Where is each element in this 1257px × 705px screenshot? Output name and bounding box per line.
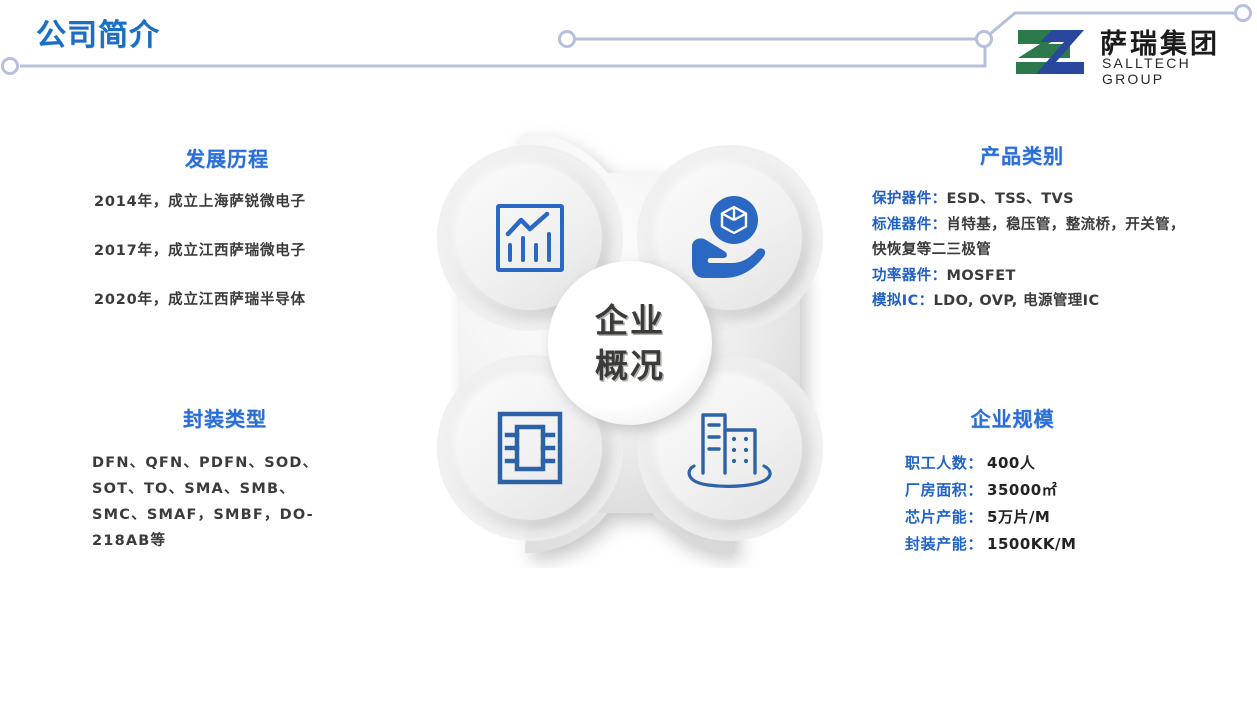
salltech-logo-mark <box>1012 26 1092 78</box>
scale-label: 芯片产能： <box>905 504 983 531</box>
page-header: 公司简介 萨瑞集团 SALLTECH GROUP <box>0 0 1257 100</box>
category-value: MOSFET <box>947 268 1016 284</box>
category-value: LDO, OVP, 电源管理IC <box>934 293 1100 309</box>
category-label: 模拟IC： <box>872 293 934 309</box>
category-label: 功率器件： <box>872 268 947 284</box>
section-enterprise-scale: 企业规模 职工人数： 400人 厂房面积： 35000㎡ 芯片产能： 5万片/M… <box>905 403 1155 558</box>
logo-name-en: SALLTECH GROUP <box>1102 55 1242 87</box>
category-item: 保护器件：ESD、TSS、TVS <box>872 187 1192 213</box>
history-item: 2017年，成立江西萨瑞微电子 <box>94 239 360 260</box>
scale-list: 职工人数： 400人 厂房面积： 35000㎡ 芯片产能： 5万片/M 封装产能… <box>905 450 1155 558</box>
scale-row: 芯片产能： 5万片/M <box>905 504 1155 531</box>
section-package-types: 封装类型 DFN、QFN、PDFN、SOD、SOT、TO、SMA、SMB、SMC… <box>92 403 358 554</box>
category-item: 标准器件：肖特基，稳压管，整流桥，开关管，快恢复等二三极管 <box>872 213 1192 264</box>
scale-value: 1500KK/M <box>987 531 1076 558</box>
scale-label: 职工人数： <box>905 450 983 477</box>
category-label: 标准器件： <box>872 217 947 233</box>
scale-row: 厂房面积： 35000㎡ <box>905 477 1155 504</box>
scale-value: 5万片/M <box>987 504 1050 531</box>
section-title-scale: 企业规模 <box>905 403 1120 432</box>
section-title-history: 发展历程 <box>94 143 360 172</box>
category-value: ESD、TSS、TVS <box>947 191 1074 207</box>
scale-row: 职工人数： 400人 <box>905 450 1155 477</box>
enterprise-overview-diagram: 企业 概况 <box>405 118 855 568</box>
company-logo: 萨瑞集团 SALLTECH GROUP <box>1012 22 1242 82</box>
page-title: 公司简介 <box>36 10 160 54</box>
category-list: 保护器件：ESD、TSS、TVS 标准器件：肖特基，稳压管，整流桥，开关管，快恢… <box>872 187 1192 315</box>
section-development-history: 发展历程 2014年，成立上海萨锐微电子 2017年，成立江西萨瑞微电子 202… <box>94 143 360 337</box>
scale-row: 封装产能： 1500KK/M <box>905 531 1155 558</box>
history-list: 2014年，成立上海萨锐微电子 2017年，成立江西萨瑞微电子 2020年，成立… <box>94 190 360 309</box>
center-circle <box>548 261 712 425</box>
category-item: 模拟IC：LDO, OVP, 电源管理IC <box>872 289 1192 315</box>
scale-value: 400人 <box>987 450 1035 477</box>
category-label: 保护器件： <box>872 191 947 207</box>
section-product-categories: 产品类别 保护器件：ESD、TSS、TVS 标准器件：肖特基，稳压管，整流桥，开… <box>872 140 1192 315</box>
section-title-category: 产品类别 <box>872 140 1172 169</box>
section-title-package: 封装类型 <box>92 403 358 432</box>
scale-label: 封装产能： <box>905 531 983 558</box>
package-types-text: DFN、QFN、PDFN、SOD、SOT、TO、SMA、SMB、SMC、SMAF… <box>92 450 337 554</box>
diagram-svg <box>405 118 855 568</box>
category-item: 功率器件：MOSFET <box>872 264 1192 290</box>
history-item: 2020年，成立江西萨瑞半导体 <box>94 288 360 309</box>
scale-value: 35000㎡ <box>987 477 1057 504</box>
history-item: 2014年，成立上海萨锐微电子 <box>94 190 360 211</box>
scale-label: 厂房面积： <box>905 477 983 504</box>
